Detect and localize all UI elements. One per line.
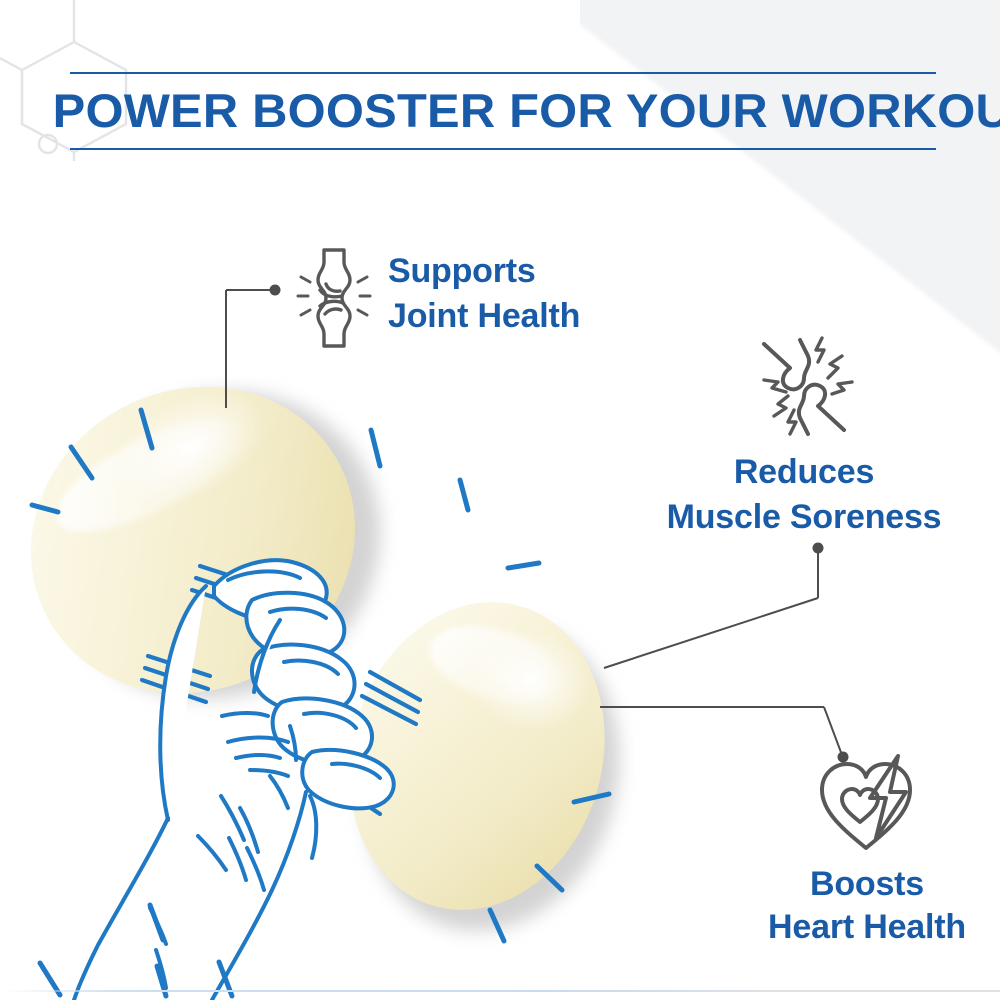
sore-joint-lightning-icon [628, 330, 980, 447]
softgel-capsule-left [0, 331, 408, 748]
forearm-line-art [74, 713, 316, 1000]
feature-muscle-label-line1: Reduces [628, 453, 980, 492]
header-rule-bottom [70, 148, 936, 150]
capsule-body [0, 331, 408, 748]
feature-joint-label-line2: Joint Health [388, 291, 580, 336]
knee-joint-icon [296, 246, 374, 355]
heart-lightning-icon [742, 752, 992, 861]
feature-muscle: Reduces Muscle Soreness [628, 330, 980, 537]
header-banner: POWER BOOSTER FOR YOUR WORKOUTS [70, 72, 936, 150]
softgel-capsule-right [314, 572, 640, 941]
bottom-hairline-divider [0, 990, 1000, 992]
feature-joint: Supports Joint Health [296, 246, 580, 355]
feature-heart-label-line2: Heart Health [742, 908, 992, 947]
infographic-canvas: POWER BOOSTER FOR YOUR WORKOUTS [0, 0, 1000, 1000]
page-title: POWER BOOSTER FOR YOUR WORKOUTS [53, 74, 954, 148]
feature-joint-label-line1: Supports [388, 246, 580, 291]
feature-muscle-label-line2: Muscle Soreness [628, 498, 980, 537]
feature-joint-labels: Supports Joint Health [388, 246, 580, 336]
feature-heart: Boosts Heart Health [742, 752, 992, 947]
feature-heart-label-line1: Boosts [742, 865, 992, 904]
